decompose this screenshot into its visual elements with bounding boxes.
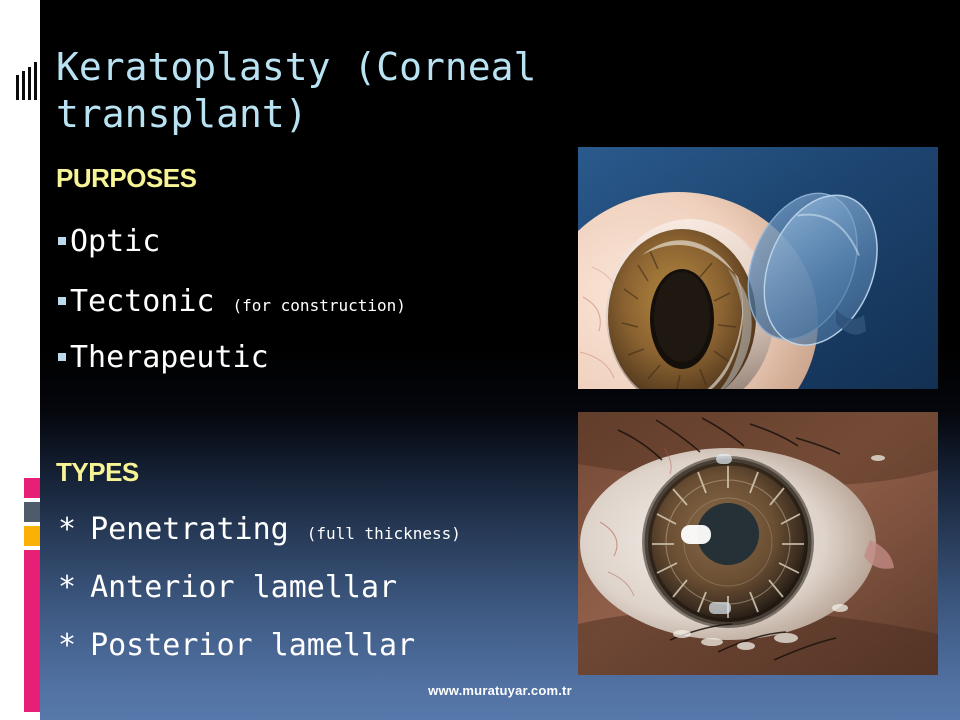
asterisk-bullet-icon: * [58, 512, 76, 547]
presentation-slide: Keratoplasty (Corneal transplant) PURPOS… [0, 0, 960, 720]
list-item-label: Tectonic [70, 284, 215, 319]
corneal-graft-illustration [578, 147, 938, 389]
footer-website-label: www.muratuyar.com.tr [40, 683, 960, 698]
list-item-label: Posterior lamellar [90, 628, 415, 663]
list-item: * Posterior lamellar [58, 628, 415, 663]
section-heading-purposes: PURPOSES [56, 163, 197, 194]
left-margin-strip [0, 0, 40, 720]
chip-slate-icon [24, 502, 41, 522]
list-item-label: Penetrating [90, 512, 289, 547]
square-bullet-icon [58, 237, 66, 245]
chip-pink-icon [24, 478, 41, 498]
list-item: * Penetrating (full thickness) [58, 512, 461, 547]
list-item-label: Anterior lamellar [90, 570, 397, 605]
asterisk-bullet-icon: * [58, 628, 76, 663]
list-item-label: Optic [70, 224, 160, 259]
list-item: * Anterior lamellar [58, 570, 397, 605]
section-heading-types: TYPES [56, 457, 139, 488]
barcode-decoration-icon [16, 62, 40, 100]
square-bullet-icon [58, 297, 66, 305]
slide-title: Keratoplasty (Corneal transplant) [56, 44, 656, 138]
list-item: Tectonic (for construction) [58, 284, 406, 319]
list-item-note: (full thickness) [307, 524, 461, 543]
transplanted-cornea-photo [578, 412, 938, 675]
list-item: Therapeutic [58, 340, 269, 375]
asterisk-bullet-icon: * [58, 570, 76, 605]
square-bullet-icon [58, 353, 66, 361]
list-item-label: Therapeutic [70, 340, 269, 375]
chip-amber-icon [24, 526, 41, 546]
list-item: Optic [58, 224, 160, 259]
pink-accent-bar [24, 550, 41, 712]
list-item-note: (for construction) [233, 296, 406, 315]
